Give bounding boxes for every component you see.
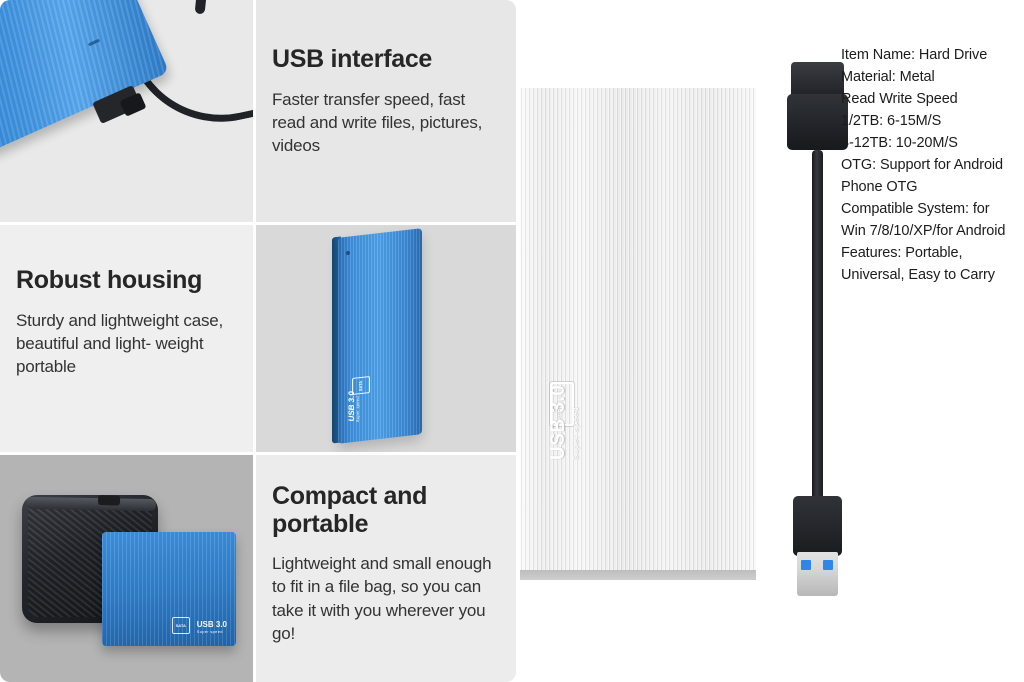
specification-list: Item Name: Hard Drive Material: Metal Re… [841, 44, 1021, 286]
silver-drive-labels: SERIAL ATA USB 3.0 Super speed [520, 88, 756, 578]
panel-compact-portable-body: Lightweight and small enough to fit in a… [272, 552, 500, 646]
drive-logos: SATA USB 3.0 Super speed [172, 617, 227, 634]
spec-line: Compatible System: for [841, 198, 1021, 220]
micro-usb-connector-icon [791, 62, 844, 96]
usb-label-sub: Super speed [197, 630, 227, 634]
sata-logo-text: SATA [176, 624, 186, 628]
sata-logo-icon: SATA [172, 617, 190, 634]
panel-robust-housing: Robust housing Sturdy and lightweight ca… [0, 225, 256, 455]
photo-tilted-blue-drive: SATA USB 3.0 Super speed [256, 225, 516, 455]
usb-label: USB 3.0 Super speed [548, 385, 580, 460]
usb-a-connector-housing [793, 496, 842, 556]
usb-label-sub: Super speed [356, 392, 360, 423]
usb-a-connector-shading [797, 568, 838, 596]
spec-line: Features: Portable, [841, 242, 1021, 264]
usb-label: USB 3.0 Super speed [197, 621, 227, 634]
panel-robust-housing-body: Sturdy and lightweight case, beautiful a… [16, 309, 240, 379]
panel-usb-interface-headline: USB interface [272, 46, 500, 74]
spec-line: Universal, Easy to Carry [841, 264, 1021, 286]
panel-usb-interface-body: Faster transfer speed, fast read and wri… [272, 88, 500, 158]
usb-cable-cord [812, 150, 823, 502]
photo-case-with-drive: SATA USB 3.0 Super speed [0, 455, 256, 682]
usb-label: USB 3.0 Super speed [348, 391, 361, 423]
case-zipper-icon [26, 497, 156, 511]
blue-drive-body: SATA USB 3.0 Super speed [102, 532, 236, 646]
spec-line: OTG: Support for Android [841, 154, 1021, 176]
spec-line: Material: Metal [841, 66, 1021, 88]
spec-line: Win 7/8/10/XP/for Android [841, 220, 1021, 242]
micro-usb-connector-housing [787, 94, 848, 150]
panel-usb-interface: USB interface Faster transfer speed, fas… [256, 0, 516, 225]
usb-label-text: USB 3.0 [197, 620, 227, 629]
spec-line: Phone OTG [841, 176, 1021, 198]
product-listing-image: USB interface Faster transfer speed, fas… [0, 0, 1024, 682]
panel-robust-housing-headline: Robust housing [16, 267, 240, 295]
panel-compact-portable: Compact and portable Lightweight and sma… [256, 455, 516, 682]
spec-line: 1/2TB: 6-15M/S [841, 110, 1021, 132]
usb-label-sub: Super speed [571, 385, 580, 460]
photo-drive-with-cable [0, 0, 256, 225]
usb-label-text: USB 3.0 [548, 385, 569, 460]
spec-line: 4-12TB: 10-20M/S [841, 132, 1021, 154]
panel-compact-portable-headline: Compact and portable [272, 483, 500, 538]
spec-line: Item Name: Hard Drive [841, 44, 1021, 66]
blue-drive-body [0, 0, 169, 159]
feature-collage: USB interface Faster transfer speed, fas… [0, 0, 516, 682]
spec-line: Read Write Speed [841, 88, 1021, 110]
sata-logo-text: SATA [359, 380, 363, 391]
